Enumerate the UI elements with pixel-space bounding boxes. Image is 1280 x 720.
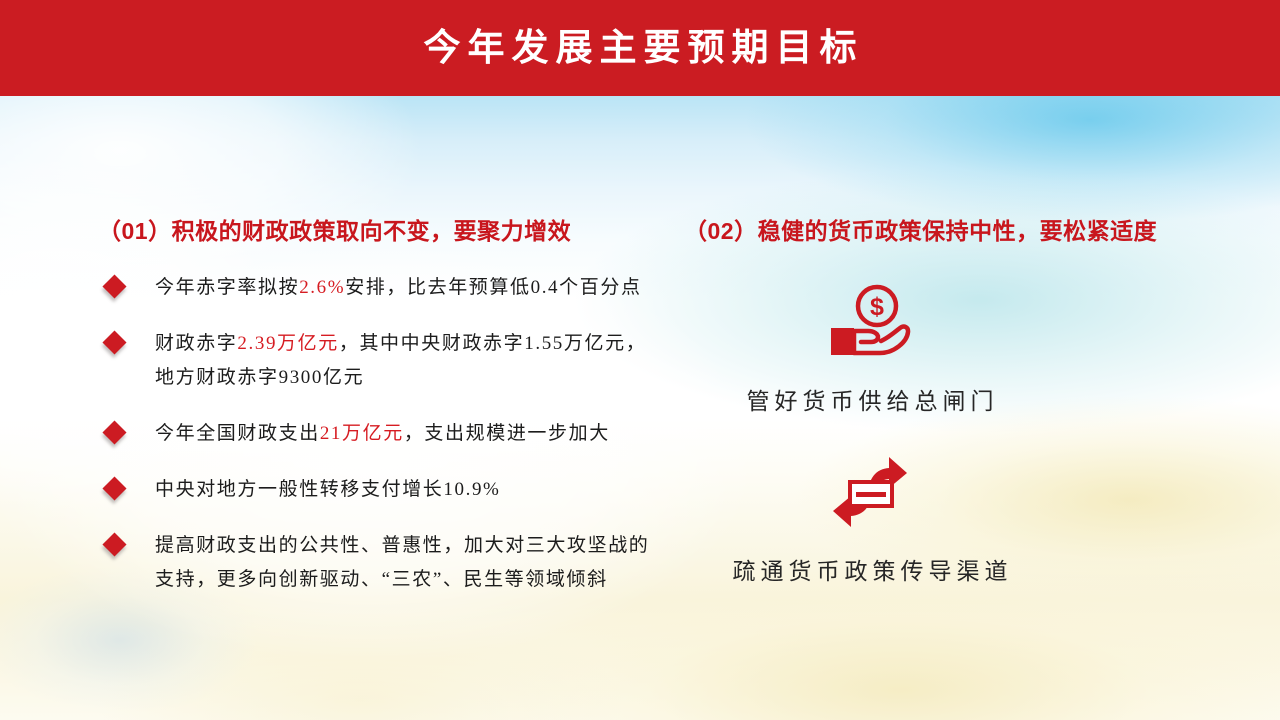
- bullet-highlight-value: 2.6%: [299, 277, 345, 298]
- bullet-row: 中央对地方一般性转移支付增长10.9%: [100, 473, 660, 507]
- monetary-item-1: $ 管好货币供给总闸门: [660, 276, 1080, 416]
- monetary-caption-1: 管好货币供给总闸门: [660, 382, 1080, 416]
- hand-holding-dollar-coin-icon: $: [660, 276, 1080, 368]
- bullet-text-segment: 今年赤字率拟按: [155, 277, 299, 298]
- bullet-text: 中央对地方一般性转移支付增长10.9%: [155, 473, 660, 507]
- slide-content: （01）积极的财政政策取向不变，要聚力增效 （02）稳健的货币政策保持中性，要松…: [0, 96, 1280, 720]
- monetary-item-2: 疏通货币政策传导渠道: [660, 446, 1080, 586]
- diamond-bullet-icon: [102, 420, 126, 444]
- bullet-text: 财政赤字2.39万亿元，其中中央财政赤字1.55万亿元，地方财政赤字9300亿元: [155, 327, 660, 395]
- bullet-text-segment: 提高财政支出的公共性、普惠性，加大对三大攻坚战的支持，更多向创新驱动、“三农”、…: [155, 535, 649, 590]
- bullet-row: 今年全国财政支出21万亿元，支出规模进一步加大: [100, 417, 660, 451]
- bullet-highlight-value: 21万亿元: [320, 423, 404, 444]
- column-heading-01: （01）积极的财政政策取向不变，要聚力增效: [98, 212, 571, 246]
- bullet-text-segment: ，支出规模进一步加大: [404, 423, 610, 444]
- bullet-highlight-value: 2.39万亿元: [237, 333, 338, 354]
- bullet-row: 提高财政支出的公共性、普惠性，加大对三大攻坚战的支持，更多向创新驱动、“三农”、…: [100, 529, 660, 597]
- bullet-text: 今年赤字率拟按2.6%安排，比去年预算低0.4个百分点: [155, 271, 660, 305]
- bullet-row: 今年赤字率拟按2.6%安排，比去年预算低0.4个百分点: [100, 271, 660, 305]
- slide-title: 今年发展主要预期目标: [0, 0, 1280, 96]
- title-banner: 今年发展主要预期目标: [0, 0, 1280, 96]
- bullet-text-segment: 中央对地方一般性转移支付增长10.9%: [155, 479, 500, 500]
- bullet-row: 财政赤字2.39万亿元，其中中央财政赤字1.55万亿元，地方财政赤字9300亿元: [100, 327, 660, 395]
- monetary-caption-2: 疏通货币政策传导渠道: [660, 552, 1080, 586]
- diamond-bullet-icon: [102, 274, 126, 298]
- column-heading-02: （02）稳健的货币政策保持中性，要松紧适度: [684, 212, 1157, 246]
- fiscal-policy-bullet-list: 今年赤字率拟按2.6%安排，比去年预算低0.4个百分点财政赤字2.39万亿元，其…: [100, 271, 660, 619]
- bullet-text-segment: 财政赤字: [155, 333, 237, 354]
- diamond-bullet-icon: [102, 476, 126, 500]
- slide-canvas: 今年发展主要预期目标 （01）积极的财政政策取向不变，要聚力增效 （02）稳健的…: [0, 0, 1280, 720]
- bullet-text-segment: 今年全国财政支出: [155, 423, 320, 444]
- svg-text:$: $: [870, 293, 884, 321]
- bullet-text-segment: 安排，比去年预算低0.4个百分点: [345, 277, 641, 298]
- banknote-circulating-arrows-icon: [660, 446, 1080, 538]
- diamond-bullet-icon: [102, 532, 126, 556]
- bullet-text: 今年全国财政支出21万亿元，支出规模进一步加大: [155, 417, 660, 451]
- bullet-text: 提高财政支出的公共性、普惠性，加大对三大攻坚战的支持，更多向创新驱动、“三农”、…: [155, 529, 660, 597]
- diamond-bullet-icon: [102, 330, 126, 354]
